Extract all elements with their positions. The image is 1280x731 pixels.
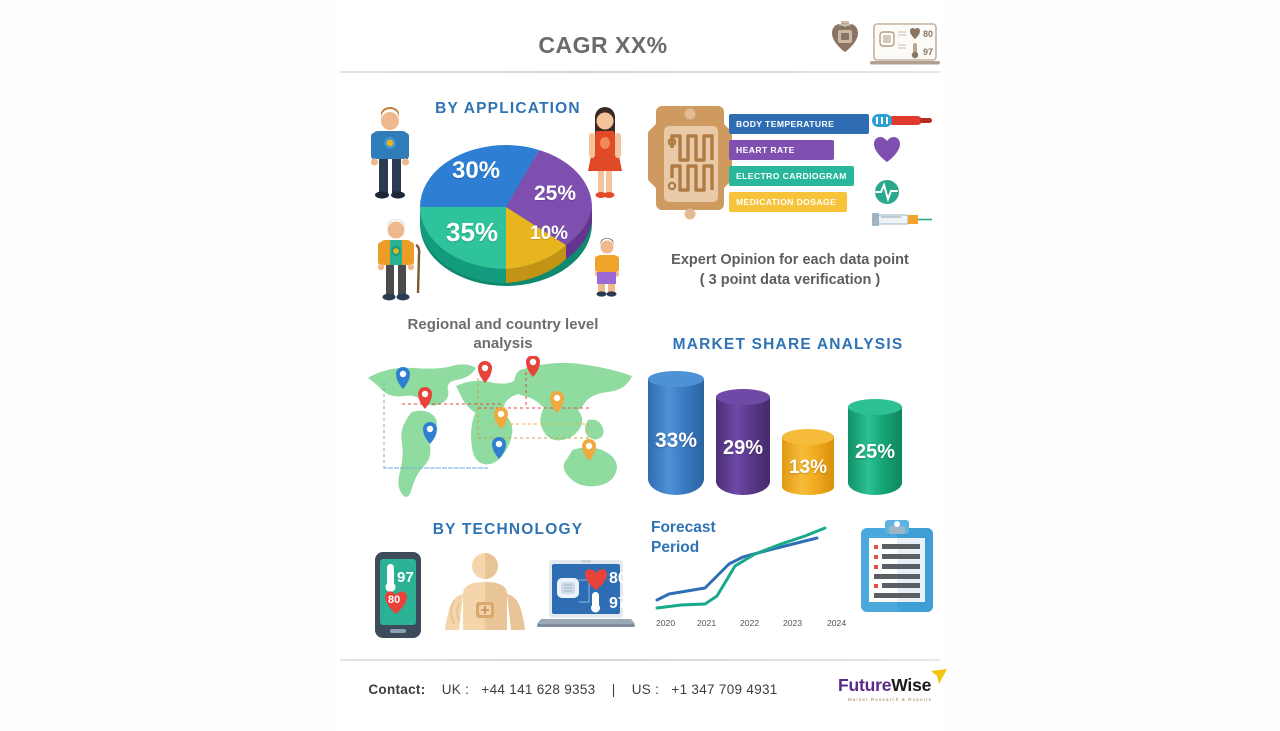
- pie-slice-label-25: 25%: [534, 182, 576, 206]
- forecast-chart: Forecast Period 2020 2021 2022 2023 2024: [643, 512, 943, 640]
- logo-swoosh-icon: [930, 669, 948, 685]
- world-map-svg: [360, 356, 640, 501]
- map-landmasses: [368, 363, 632, 497]
- header: CAGR XX% 80: [338, 0, 942, 72]
- thermometer-icon: [872, 114, 932, 127]
- contact-line: Contact: UK : +44 141 628 9353 | US : +1…: [338, 682, 808, 697]
- svg-text:97: 97: [923, 47, 933, 57]
- forecast-year-2020: 2020: [656, 618, 675, 628]
- pie-chart-graphic: [420, 145, 592, 286]
- elderly-man-figure: [378, 219, 419, 300]
- forecast-year-2021: 2021: [697, 618, 716, 628]
- header-icons: 80 97: [826, 16, 942, 68]
- logo-tagline: Market Research & Reports: [838, 697, 942, 702]
- svg-text:80: 80: [923, 29, 933, 39]
- body-patch-sensor-icon: [437, 550, 533, 640]
- header-icons-svg: 80 97: [826, 16, 942, 68]
- infographic-sheet: CAGR XX% 80: [338, 0, 942, 731]
- regional-title-line-2: analysis: [353, 334, 653, 353]
- market-share-bar-4: 25%: [848, 399, 902, 495]
- market-share-value-2: 29%: [716, 437, 770, 460]
- contact-label: Contact:: [368, 682, 425, 697]
- sensor-panel: BODY TEMPERATURE HEART RATE ELECTRO CARD…: [643, 100, 943, 230]
- pie-slice-label-10: 10%: [530, 223, 568, 245]
- flexible-sensor-chip-icon: [648, 102, 738, 227]
- adult-man-figure: [371, 107, 409, 199]
- laptop-monitor-icon: 80 97: [870, 24, 940, 65]
- laptop-vitals-icon: 80 97: [537, 556, 635, 646]
- regional-analysis-title: Regional and country level analysis: [353, 315, 653, 353]
- forecast-lines-svg: [647, 512, 847, 620]
- sensor-bar-heart-rate: HEART RATE: [729, 140, 834, 160]
- expert-opinion-caption: Expert Opinion for each data point ( 3 p…: [638, 250, 942, 290]
- market-share-value-4: 25%: [848, 441, 902, 464]
- laptop-temperature-value: 97: [609, 595, 627, 612]
- checklist-clipboard-icon: [859, 518, 935, 614]
- market-share-bar-1: 33%: [648, 371, 704, 495]
- pie-slice-label-35: 35%: [446, 217, 498, 248]
- market-share-bar-2: 29%: [716, 389, 770, 495]
- technology-icons: 97 80: [363, 548, 643, 640]
- market-share-title: MARKET SHARE ANALYSIS: [638, 336, 938, 354]
- uk-number: +44 141 628 9353: [481, 682, 595, 697]
- map-pin: [478, 361, 492, 383]
- heart-icon: [874, 137, 900, 162]
- ecg-icon: [875, 180, 899, 204]
- expert-line-1: Expert Opinion for each data point: [638, 250, 942, 270]
- by-application-chart: 30% 25% 10% 35%: [358, 95, 658, 315]
- heart-chip-icon: [832, 21, 858, 52]
- uk-label: UK :: [442, 682, 469, 697]
- forecast-year-2024: 2024: [827, 618, 846, 628]
- adult-woman-figure: [588, 107, 622, 198]
- logo-wordmark: FutureWise: [838, 675, 942, 696]
- market-share-value-3: 13%: [782, 457, 834, 479]
- sensor-icons-svg: [868, 110, 948, 230]
- application-figures-svg: [358, 95, 658, 315]
- infographic-page: CAGR XX% 80: [0, 0, 1280, 731]
- map-pin: [418, 387, 432, 409]
- sensor-bar-body-temperature: BODY TEMPERATURE: [729, 114, 869, 134]
- footer-divider: [340, 659, 940, 661]
- futurewise-logo[interactable]: FutureWise Market Research & Reports: [838, 675, 942, 713]
- contact-separator: |: [612, 682, 616, 697]
- forecast-series-blue: [657, 538, 817, 600]
- header-divider: [340, 71, 940, 73]
- us-number: +1 347 709 4931: [671, 682, 777, 697]
- phone-heart-rate-value: 80: [388, 594, 400, 606]
- forecast-year-2022: 2022: [740, 618, 759, 628]
- us-label: US :: [632, 682, 659, 697]
- child-figure: [595, 238, 619, 297]
- syringe-icon: [872, 213, 932, 226]
- market-share-bar-3: 13%: [782, 429, 834, 495]
- logo-wise-text: Wise: [891, 675, 931, 695]
- market-share-chart: 33% 29% 13% 25%: [638, 360, 938, 495]
- smartphone-vitals-icon: 97 80: [371, 550, 427, 640]
- regional-title-line-1: Regional and country level: [353, 315, 653, 334]
- logo-future-text: Future: [838, 675, 891, 695]
- market-share-value-1: 33%: [648, 429, 704, 453]
- phone-temperature-value: 97: [397, 569, 414, 586]
- laptop-heart-rate-value: 80: [609, 570, 627, 587]
- forecast-series-green: [657, 528, 825, 608]
- sensor-bar-medication-dosage: MEDICATION DOSAGE: [729, 192, 847, 212]
- expert-line-2: ( 3 point data verification ): [638, 270, 942, 290]
- pie-slice-label-30: 30%: [452, 157, 500, 185]
- forecast-year-2023: 2023: [783, 618, 802, 628]
- world-map: [360, 356, 640, 501]
- page-title: CAGR XX%: [338, 32, 868, 59]
- sensor-bar-electro-cardiogram: ELECTRO CARDIOGRAM: [729, 166, 854, 186]
- by-technology-title: BY TECHNOLOGY: [358, 521, 658, 539]
